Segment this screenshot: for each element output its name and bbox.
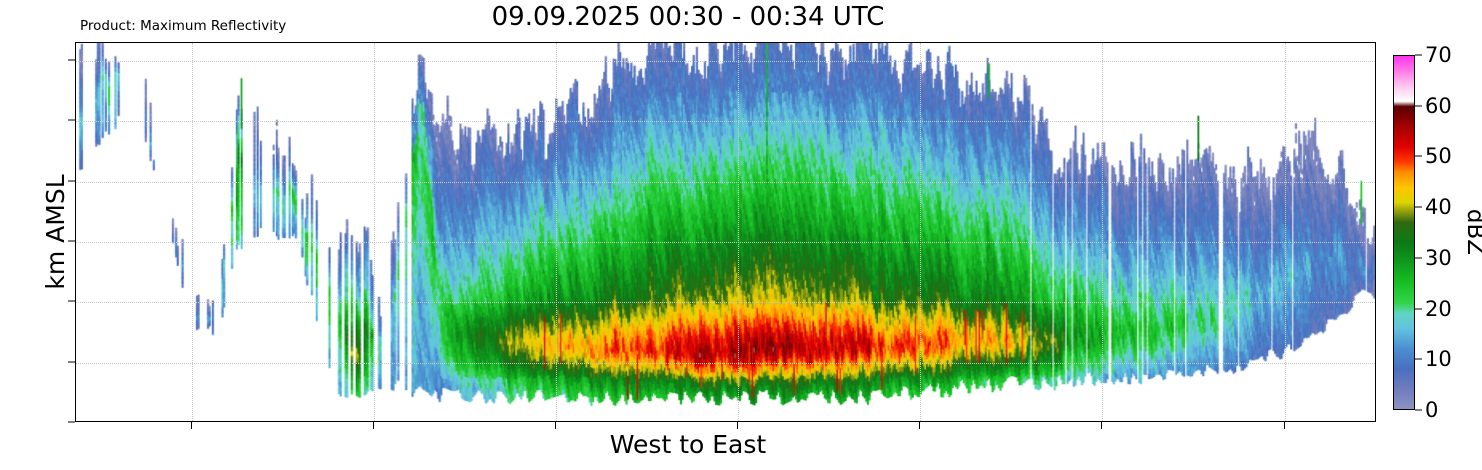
y-axis-tick (68, 361, 75, 362)
y-axis-tick (68, 120, 75, 121)
y-axis-tick (68, 301, 75, 302)
x-axis-tick (555, 422, 556, 429)
colorbar-tick-label: 40 (1425, 195, 1452, 219)
colorbar-gradient (1394, 56, 1414, 409)
plot-area (75, 42, 1376, 422)
colorbar-tick (1415, 55, 1422, 56)
colorbar-tick (1415, 308, 1422, 309)
colorbar-tick-label: 30 (1425, 246, 1452, 270)
colorbar-tick-label: 10 (1425, 347, 1452, 371)
colorbar-title: dBZ (1462, 209, 1482, 255)
colorbar-tick-label: 70 (1425, 43, 1452, 67)
x-axis-label: West to East (0, 430, 1376, 459)
colorbar-tick (1415, 410, 1422, 411)
y-axis-tick (68, 422, 75, 423)
colorbar-tick (1415, 207, 1422, 208)
x-axis-tick (1101, 422, 1102, 429)
colorbar-tick-label: 20 (1425, 297, 1452, 321)
colorbar-tick (1415, 105, 1422, 106)
y-axis-tick (68, 241, 75, 242)
colorbar-tick-label: 50 (1425, 144, 1452, 168)
x-axis-tick (737, 422, 738, 429)
x-axis-tick (919, 422, 920, 429)
colorbar-tick-label: 60 (1425, 94, 1452, 118)
reflectivity-heatmap (76, 43, 1375, 421)
x-axis-tick (1284, 422, 1285, 429)
y-axis-tick (68, 180, 75, 181)
colorbar-tick (1415, 257, 1422, 258)
colorbar-tick (1415, 156, 1422, 157)
x-axis-tick (373, 422, 374, 429)
colorbar-tick (1415, 359, 1422, 360)
radar-cross-section-figure: 09.09.2025 00:30 - 00:34 UTC Product: Ma… (0, 0, 1482, 470)
x-axis-tick (191, 422, 192, 429)
y-axis-label: km AMSL (41, 174, 70, 289)
product-label: Product: Maximum Reflectivity (80, 18, 286, 34)
colorbar-tick-label: 0 (1425, 398, 1438, 422)
colorbar (1393, 55, 1415, 410)
y-axis-tick (68, 60, 75, 61)
